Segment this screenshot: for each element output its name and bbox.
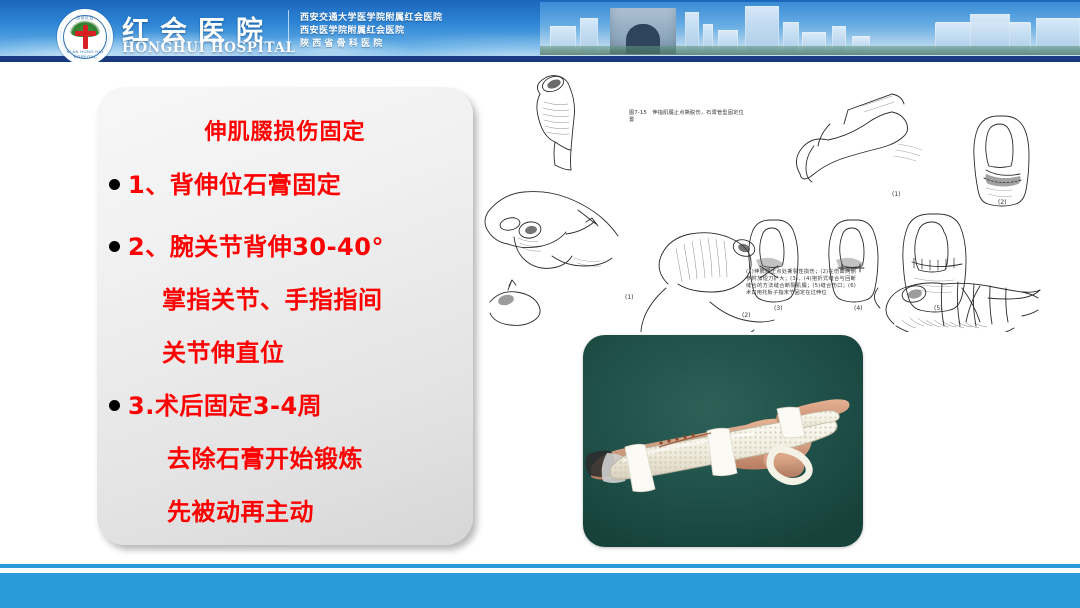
emblem-arc-bottom-label: XI AN HONG HUI HOSPITAL xyxy=(59,49,111,59)
medical-line-drawings: (1) (2) xyxy=(478,62,1080,332)
svg-text:(1): (1) xyxy=(892,191,901,198)
footer-thin-line xyxy=(0,564,1080,568)
figure-caption-top: 图7-15 伸指肌腏止点撕脱伤，石膏管型固定位置 xyxy=(629,110,749,124)
hospital-emblem-icon: 西安红会 XI AN HONG HUI HOSPITAL xyxy=(57,9,113,62)
svg-text:(2): (2) xyxy=(998,199,1007,206)
sub-line-4: 先被动再主动 xyxy=(97,492,543,527)
affiliation-line-1: 西安交通大学医学院附属红会医院 xyxy=(300,12,443,25)
splint-photograph xyxy=(583,335,863,547)
bullet-dot-icon xyxy=(109,241,120,252)
bullet-item-1-label: 1、背伸位石膏固定 xyxy=(128,171,341,199)
bullet-dot-icon xyxy=(109,400,120,411)
footer-bar xyxy=(0,573,1080,608)
header-affiliation-lines: 西安交通大学医学院附属红会医院 西安医学院附属红会医院 陝西省骨科医院 xyxy=(300,12,443,51)
sub-line-1: 掌指关节、手指指间 xyxy=(97,280,538,315)
brand-name-english: HONGHUI HOSPITAL xyxy=(122,40,296,56)
bullet-dot-icon xyxy=(109,179,120,190)
sub-line-3: 去除石膏开始锻炼 xyxy=(97,439,543,474)
bullet-item-2: 2、腕关节背伸30-40° xyxy=(97,227,485,262)
bullet-item-1: 1、背伸位石膏固定 xyxy=(97,165,485,200)
affiliation-line-2: 西安医学院附属红会医院 xyxy=(300,25,443,38)
bullet-item-2-label: 2、腕关节背伸30-40° xyxy=(128,233,384,261)
bullet-item-3-label: 3.术后固定3-4周 xyxy=(128,392,322,420)
sub-line-2: 关节伸直位 xyxy=(97,333,538,368)
svg-text:(1): (1) xyxy=(625,294,634,301)
slide-header: 西安红会 XI AN HONG HUI HOSPITAL 红会医院 HONGHU… xyxy=(0,0,1080,62)
svg-text:(2): (2) xyxy=(742,312,751,319)
affiliation-line-3: 陝西省骨科医院 xyxy=(300,38,443,51)
bullet-item-3: 3.术后固定3-4周 xyxy=(97,386,485,421)
header-city-skyline-image xyxy=(540,2,1080,56)
slide-content-area: 伸肌腏损伤固定 1、背伸位石膏固定 2、腕关节背伸30-40° 掌指关节、手指指… xyxy=(0,62,1080,555)
figure-caption-bottom: (1)伸肌腏止点处撕裂性损伤；(2)在伤口两侧参附加短刀扩大；(3)、(4)抱折… xyxy=(746,269,856,297)
header-vertical-divider xyxy=(288,10,289,52)
svg-text:(3): (3) xyxy=(774,305,783,312)
content-text-panel: 伸肌腏损伤固定 1、背伸位石膏固定 2、腕关节背伸30-40° 掌指关节、手指指… xyxy=(97,87,473,545)
panel-title: 伸肌腏损伤固定 xyxy=(97,114,473,146)
svg-text:(4): (4) xyxy=(854,305,863,312)
splint-photo-svg xyxy=(583,335,863,547)
